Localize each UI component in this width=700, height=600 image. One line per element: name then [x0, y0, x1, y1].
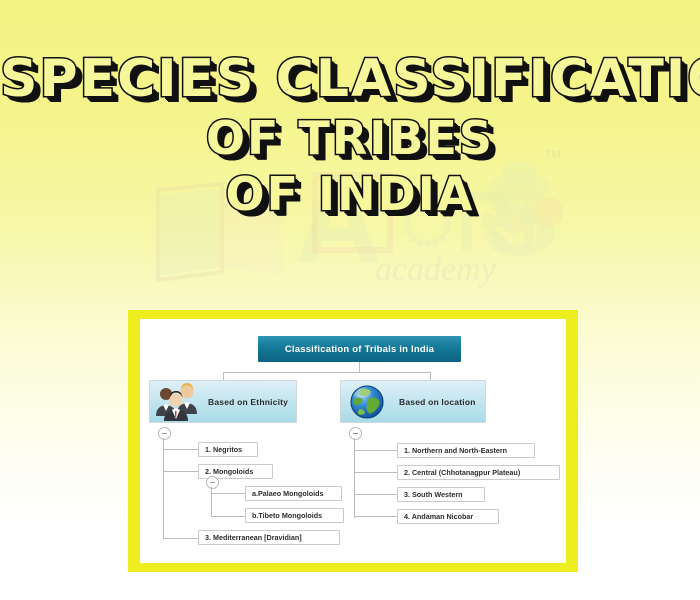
- watermark-logo: A ास S academy TM: [150, 140, 570, 290]
- title-line-1: SPECIES CLASSIFICATION: [0, 48, 700, 110]
- collapse-toggle-ethnicity[interactable]: [158, 427, 171, 440]
- branch-node-location[interactable]: Based on location: [340, 380, 486, 423]
- connector-root-to-location: [430, 372, 431, 380]
- connector-mon-palaeo: [211, 493, 245, 494]
- collapse-toggle-mongoloids[interactable]: [206, 476, 219, 489]
- globe-icon: [345, 383, 389, 421]
- connector-eth-mediterranean: [163, 538, 198, 539]
- connector-loc-andaman: [354, 516, 397, 517]
- leaf-mediterranean[interactable]: 3. Mediterranean [Dravidian]: [198, 530, 340, 545]
- connector-loc-south: [354, 494, 397, 495]
- leaf-andaman-nicobar[interactable]: 4. Andaman Nicobar: [397, 509, 499, 524]
- svg-text:ास: ास: [400, 168, 543, 270]
- people-group-icon: [154, 383, 198, 421]
- diagram-canvas: Classification of Tribals in India: [140, 319, 566, 563]
- title-line-2: OF TRIBES: [0, 110, 700, 166]
- svg-text:academy: academy: [375, 251, 497, 288]
- connector-eth-negritos: [163, 449, 198, 450]
- connector-root-stem: [359, 362, 360, 372]
- diagram-frame: Classification of Tribals in India: [128, 310, 578, 572]
- leaf-palaeo-mongoloids[interactable]: a.Palaeo Mongoloids: [245, 486, 342, 501]
- svg-text:A: A: [295, 154, 382, 288]
- connector-root-bar: [223, 372, 431, 373]
- svg-text:TM: TM: [545, 149, 561, 161]
- connector-loc-central: [354, 472, 397, 473]
- leaf-south-western[interactable]: 3. South Western: [397, 487, 485, 502]
- leaf-negritos[interactable]: 1. Negritos: [198, 442, 258, 457]
- leaf-central-chhotanagpur[interactable]: 2. Central (Chhotanagpur Plateau): [397, 465, 560, 480]
- title-line-3: OF INDIA: [0, 166, 700, 222]
- branch-label-ethnicity: Based on Ethnicity: [208, 397, 288, 407]
- branch-label-location: Based on location: [399, 397, 476, 407]
- svg-text:S: S: [480, 149, 559, 281]
- connector-eth-spine: [163, 438, 164, 539]
- collapse-toggle-location[interactable]: [349, 427, 362, 440]
- connector-eth-mongoloids: [163, 471, 198, 472]
- connector-loc-northern: [354, 450, 397, 451]
- page-title: SPECIES CLASSIFICATION OF TRIBES OF INDI…: [0, 48, 700, 222]
- root-node[interactable]: Classification of Tribals in India: [258, 336, 461, 362]
- connector-root-to-ethnicity: [223, 372, 224, 380]
- leaf-tibeto-mongoloids[interactable]: b.Tibeto Mongoloids: [245, 508, 344, 523]
- connector-mon-spine: [211, 487, 212, 517]
- leaf-northern-north-eastern[interactable]: 1. Northern and North-Eastern: [397, 443, 535, 458]
- branch-node-ethnicity[interactable]: Based on Ethnicity: [149, 380, 297, 423]
- connector-mon-tibeto: [211, 516, 245, 517]
